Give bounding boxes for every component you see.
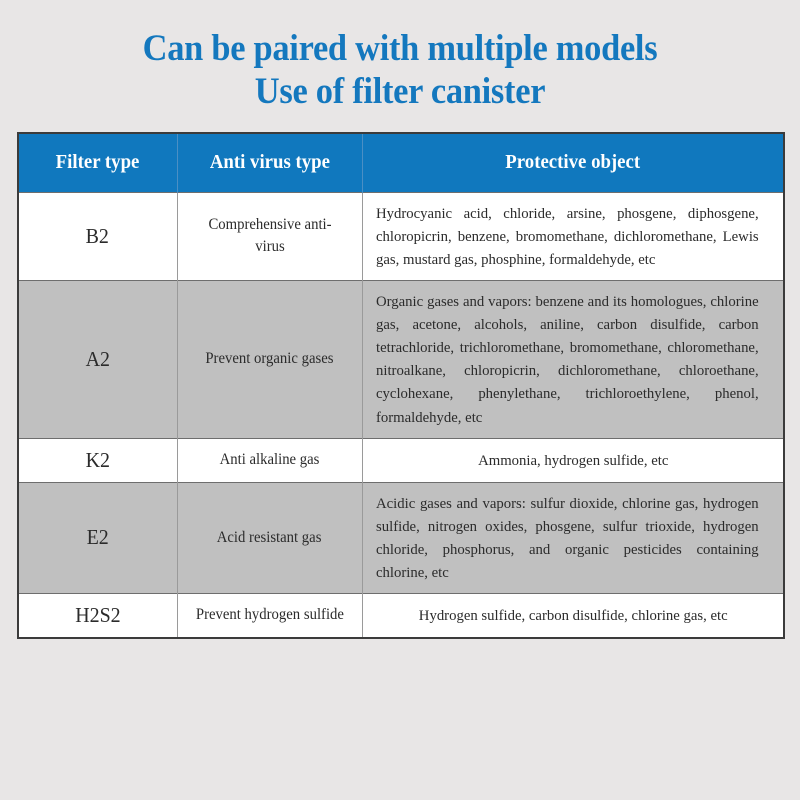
cell-anti-virus-type: Prevent organic gases (177, 281, 362, 439)
protective-object-value: Ammonia, hydrogen sulfide, etc (381, 449, 764, 472)
column-header-anti-virus-type-label: Anti virus type (209, 151, 329, 174)
cell-protective-object: Organic gases and vapors: benzene and it… (362, 281, 783, 439)
cell-anti-virus-type: Comprehensive anti-virus (177, 192, 362, 280)
page-title: Can be paired with multiple models Use o… (0, 0, 800, 114)
cell-anti-virus-type: Prevent hydrogen sulfide (177, 594, 362, 638)
filter-type-value: H2S2 (75, 603, 120, 628)
cell-filter-type: K2 (19, 438, 177, 482)
anti-virus-type-value: Acid resistant gas (217, 527, 322, 549)
cell-anti-virus-type: Acid resistant gas (177, 482, 362, 593)
cell-protective-object: Ammonia, hydrogen sulfide, etc (362, 438, 783, 482)
table-row: H2S2Prevent hydrogen sulfideHydrogen sul… (19, 594, 783, 638)
filter-type-value: B2 (86, 224, 109, 249)
product-spec-page: Can be paired with multiple models Use o… (0, 0, 800, 800)
cell-protective-object: Acidic gases and vapors: sulfur dioxide,… (362, 482, 783, 593)
table-row: K2Anti alkaline gasAmmonia, hydrogen sul… (19, 438, 783, 482)
cell-filter-type: E2 (19, 482, 177, 593)
column-header-protective-object-label: Protective object (505, 151, 640, 174)
anti-virus-type-value: Comprehensive anti-virus (194, 214, 346, 259)
filter-spec-table-container: Filter type Anti virus type Protective o… (17, 132, 785, 639)
cell-protective-object: Hydrogen sulfide, carbon disulfide, chlo… (362, 594, 783, 638)
filter-type-value: K2 (86, 448, 110, 473)
filter-spec-table: Filter type Anti virus type Protective o… (19, 134, 783, 637)
protective-object-value: Organic gases and vapors: benzene and it… (376, 290, 759, 429)
table-header-row: Filter type Anti virus type Protective o… (19, 134, 783, 193)
table-header: Filter type Anti virus type Protective o… (19, 134, 783, 193)
protective-object-value: Acidic gases and vapors: sulfur dioxide,… (376, 492, 759, 584)
table-row: A2Prevent organic gasesOrganic gases and… (19, 281, 783, 439)
cell-protective-object: Hydrocyanic acid, chloride, arsine, phos… (362, 192, 783, 280)
cell-filter-type: H2S2 (19, 594, 177, 638)
cell-filter-type: A2 (19, 281, 177, 439)
cell-anti-virus-type: Anti alkaline gas (177, 438, 362, 482)
protective-object-value: Hydrocyanic acid, chloride, arsine, phos… (376, 202, 759, 271)
column-header-filter-type: Filter type (19, 134, 177, 193)
filter-type-value: E2 (87, 525, 109, 550)
column-header-protective-object: Protective object (362, 134, 783, 193)
table-row: E2Acid resistant gasAcidic gases and vap… (19, 482, 783, 593)
table-row: B2Comprehensive anti-virusHydrocyanic ac… (19, 192, 783, 280)
page-title-line-2: Use of filter canister (28, 71, 772, 114)
column-header-anti-virus-type: Anti virus type (177, 134, 362, 193)
cell-filter-type: B2 (19, 192, 177, 280)
filter-type-value: A2 (86, 347, 110, 372)
anti-virus-type-value: Anti alkaline gas (220, 449, 320, 471)
anti-virus-type-value: Prevent hydrogen sulfide (195, 604, 343, 626)
table-body: B2Comprehensive anti-virusHydrocyanic ac… (19, 192, 783, 637)
column-header-filter-type-label: Filter type (56, 151, 140, 174)
anti-virus-type-value: Prevent organic gases (205, 348, 333, 370)
page-title-line-1: Can be paired with multiple models (28, 28, 772, 71)
protective-object-value: Hydrogen sulfide, carbon disulfide, chlo… (381, 604, 764, 627)
